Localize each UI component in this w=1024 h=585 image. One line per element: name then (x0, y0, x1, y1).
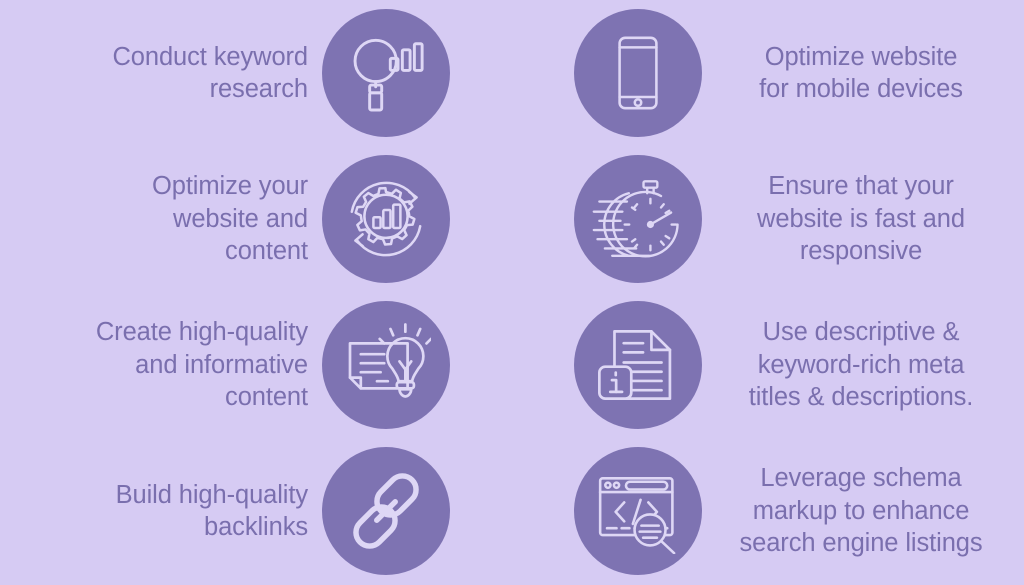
document-lightbulb-icon (341, 320, 431, 410)
item-label: Optimize website for mobile devices (716, 41, 1006, 106)
gear-bar-chart-arrows-icon (341, 174, 431, 264)
icon-badge (574, 9, 702, 137)
list-item: Leverage schema markup to enhance search… (512, 438, 1024, 584)
list-item: Conduct keyword research (0, 0, 512, 146)
infographic-board: Conduct keyword research Optimize (0, 0, 1024, 585)
stopwatch-speed-icon (592, 173, 684, 265)
browser-code-search-icon (595, 468, 681, 554)
icon-badge (574, 447, 702, 575)
list-item: Create high-quality and informative cont… (0, 292, 512, 438)
list-item: Build high-quality backlinks (0, 438, 512, 584)
icon-badge (574, 301, 702, 429)
chain-link-icon (344, 469, 428, 553)
item-label: Use descriptive & keyword-rich meta titl… (716, 316, 1006, 413)
icon-badge (322, 301, 450, 429)
list-item: Optimize website for mobile devices (512, 0, 1024, 146)
icon-badge (322, 447, 450, 575)
smartphone-icon (598, 33, 678, 113)
item-label: Create high-quality and informative cont… (52, 316, 308, 413)
item-label: Leverage schema markup to enhance search… (716, 462, 1006, 559)
list-item: Use descriptive & keyword-rich meta titl… (512, 292, 1024, 438)
list-item: Ensure that your website is fast and res… (512, 146, 1024, 292)
list-item: Optimize your website and content (0, 146, 512, 292)
item-label: Conduct keyword research (52, 41, 308, 106)
left-column: Conduct keyword research Optimize (0, 0, 512, 585)
magnifier-bar-chart-icon (343, 30, 429, 116)
right-column: Optimize website for mobile devices (512, 0, 1024, 585)
icon-badge (322, 155, 450, 283)
item-label: Ensure that your website is fast and res… (716, 170, 1006, 267)
icon-badge (322, 9, 450, 137)
item-label: Optimize your website and content (52, 170, 308, 267)
document-info-icon (596, 323, 680, 407)
icon-badge (574, 155, 702, 283)
item-label: Build high-quality backlinks (52, 479, 308, 544)
